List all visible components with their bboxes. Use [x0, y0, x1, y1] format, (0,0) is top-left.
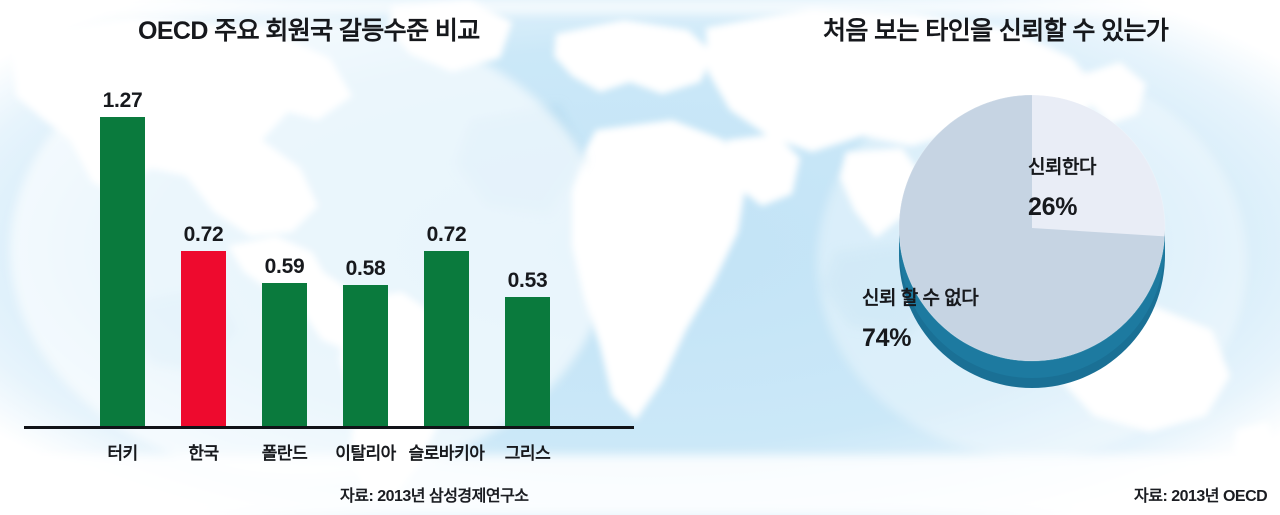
pie-value-distrust: 74%: [862, 324, 1092, 353]
bar-value-label: 0.53: [508, 269, 548, 293]
pie-label-distrust: 신뢰 할 수 없다: [862, 283, 1092, 310]
right-chart-source: 자료: 2013년 OECD: [1134, 482, 1267, 506]
bar-column: [505, 297, 550, 427]
bar-category-label: 한국: [188, 439, 218, 464]
bar-value-label: 0.72: [184, 223, 224, 247]
bar-value-label: 0.58: [346, 257, 386, 281]
infographic-canvas: OECD 주요 회원국 갈등수준 비교 처음 보는 타인을 신뢰할 수 있는가 …: [0, 0, 1280, 515]
bar-value-label: 0.72: [427, 223, 467, 247]
bar-category-label: 그리스: [505, 439, 550, 464]
bar-category-label: 터키: [107, 439, 137, 464]
bar-item: 0.72 슬로바키아: [424, 251, 469, 427]
bar-column: [343, 285, 388, 427]
bar-column: [100, 117, 145, 427]
left-chart-source: 자료: 2013년 삼성경제연구소: [340, 482, 529, 506]
bar-value-label: 1.27: [103, 89, 143, 113]
pie-label-trust: 신뢰한다: [1028, 152, 1218, 179]
bar-item: 0.53 그리스: [505, 297, 550, 427]
bar-category-label: 폴란드: [262, 439, 307, 464]
bar-column: [424, 251, 469, 427]
bar-item: 0.58 이탈리아: [343, 285, 388, 427]
pie-annotation-trust: 신뢰한다 26%: [1028, 152, 1218, 222]
bar-category-label: 슬로바키아: [409, 439, 485, 464]
bar-column: [181, 251, 226, 427]
bar-item: 0.72 한국: [181, 251, 226, 427]
bar-chart-baseline-axis: [24, 426, 634, 429]
bar-column: [262, 283, 307, 427]
bar-item: 1.27 터키: [100, 117, 145, 427]
pie-annotation-distrust: 신뢰 할 수 없다 74%: [862, 283, 1092, 353]
bar-value-label: 0.59: [265, 255, 305, 279]
bar-category-label: 이탈리아: [335, 439, 396, 464]
left-chart-title: OECD 주요 회원국 갈등수준 비교: [138, 11, 480, 47]
bar-item: 0.59 폴란드: [262, 283, 307, 427]
right-chart-title: 처음 보는 타인을 신뢰할 수 있는가: [823, 11, 1168, 47]
pie-value-trust: 26%: [1028, 193, 1218, 222]
bar-chart: 1.27 터키 0.72 한국 0.59 폴란드 0.58 이탈리아 0.72 …: [0, 0, 660, 515]
